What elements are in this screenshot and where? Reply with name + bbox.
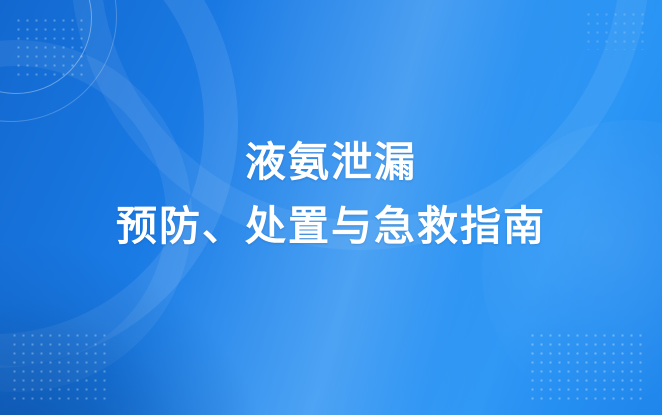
- slide-title-line-1: 液氨泄漏: [245, 135, 417, 190]
- slide-title-line-2: 预防、处置与急救指南: [116, 199, 546, 254]
- title-block: 液氨泄漏 预防、处置与急救指南: [0, 0, 662, 415]
- title-slide: 液氨泄漏 预防、处置与急救指南: [0, 0, 662, 415]
